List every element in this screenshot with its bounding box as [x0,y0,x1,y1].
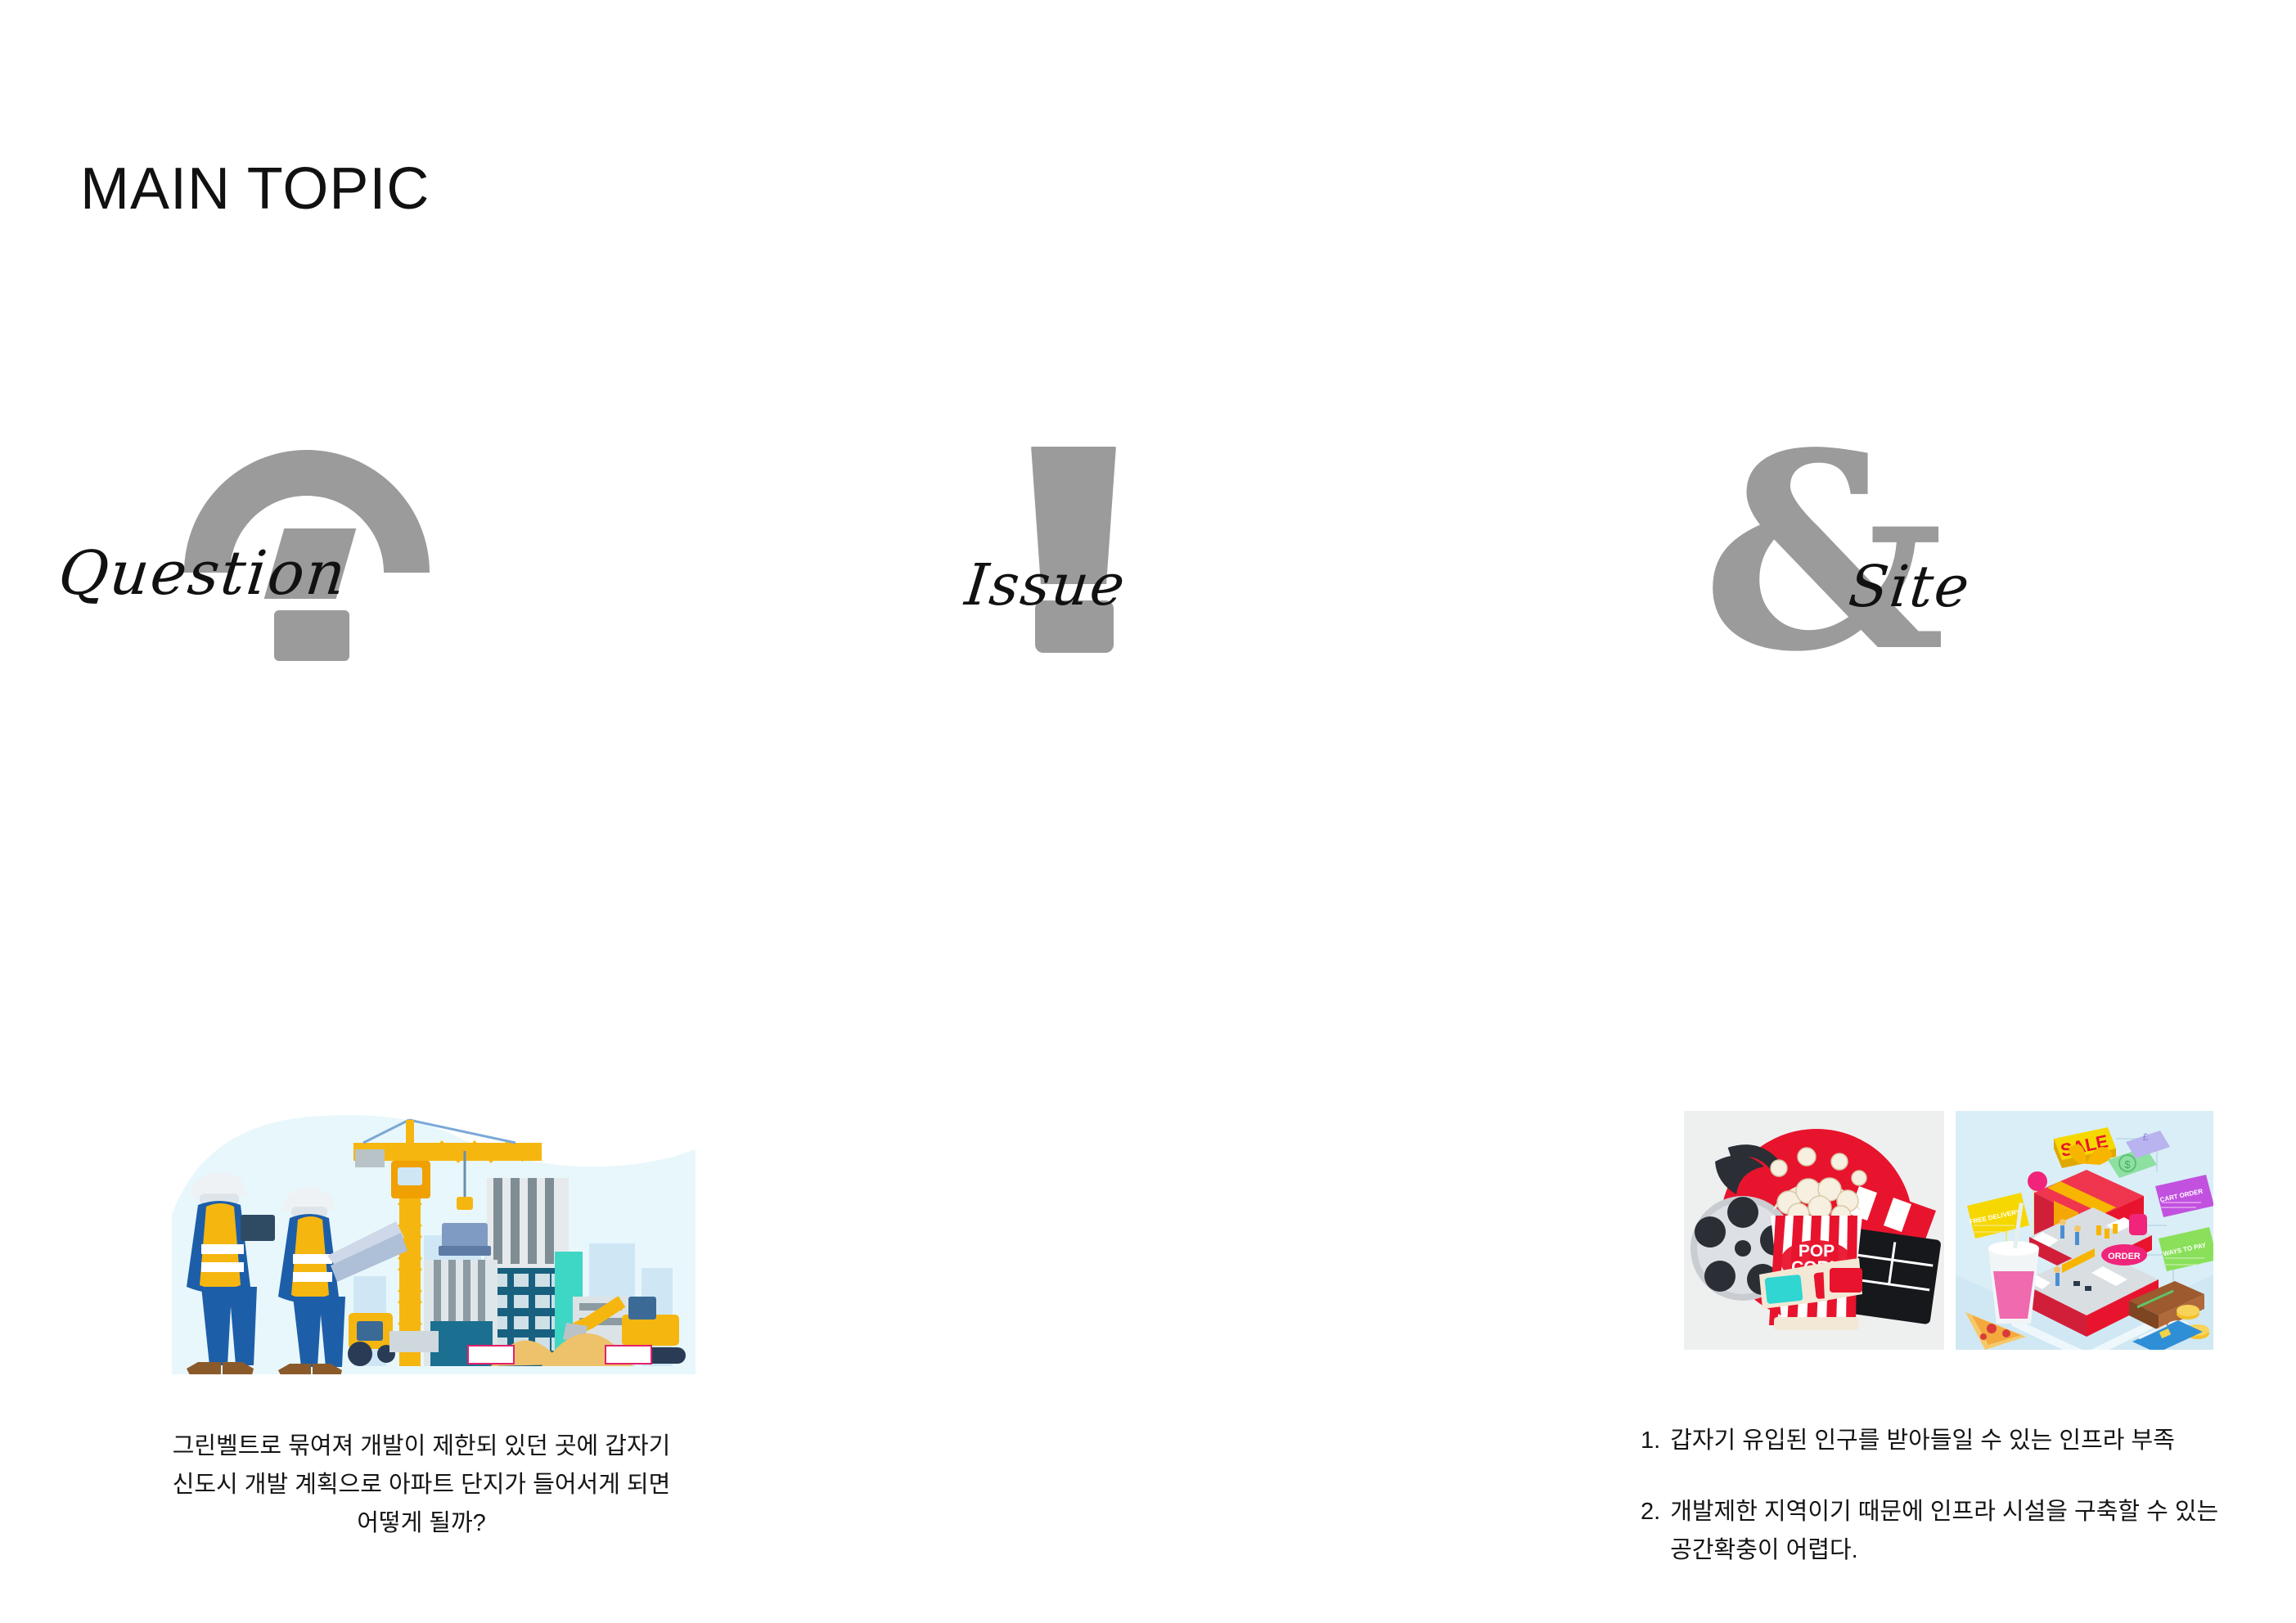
exclamation-mark-icon [1025,447,1123,653]
column-site: & Site [1579,442,2201,654]
caption-line: 그린벨트로 묶여져 개발이 제한되 있던 곳에 갑자기 [98,1427,745,1466]
question-caption: 그린벨트로 묶여져 개발이 제한되 있던 곳에 갑자기 신도시 개발 계획으로 … [98,1427,745,1543]
question-badge: Question [49,442,696,654]
issue-script-label: Issue [962,551,1130,618]
column-question: Question [49,442,696,654]
issue-item-number: 1. [1641,1422,1660,1460]
site-badge: & Site [1579,442,2201,654]
page-title: MAIN TOPIC [80,160,430,218]
issue-badge: Issue [818,442,1416,654]
cinema-popcorn-illustration: POP CORN [1684,1111,1944,1350]
question-script-label: Question [55,538,350,609]
site-script-label: Site [1846,553,1974,620]
caption-line: 어떻게 될까? [98,1504,745,1543]
issue-item-text: 갑자기 유입된 인구를 받아들일 수 있는 인프라 부족 [1670,1422,2175,1460]
issue-item: 1. 갑자기 유입된 인구를 받아들일 수 있는 인프라 부족 [1641,1422,2246,1460]
issue-item-number: 2. [1641,1493,1660,1570]
column-issue: Issue [818,442,1416,654]
svg-text:$: $ [2124,1158,2131,1171]
svg-text:£: £ [2143,1131,2149,1143]
construction-site-illustration [164,1092,704,1374]
ampersand-icon: & [1702,417,1946,687]
online-shopping-isometric-illustration: SALE $ £ % [1956,1111,2213,1350]
issue-item: 2. 개발제한 지역이기 때문에 인프라 시설을 구축할 수 있는 공간확충이 … [1641,1493,2246,1570]
caption-line: 신도시 개발 계획으로 아파트 단지가 들어서게 되면 [98,1466,745,1504]
svg-text:ORDER: ORDER [2108,1252,2141,1261]
issue-caption: 1. 갑자기 유입된 인구를 받아들일 수 있는 인프라 부족 2. 개발제한 … [1641,1422,2246,1603]
issue-item-text: 개발제한 지역이기 때문에 인프라 시설을 구축할 수 있는 공간확충이 어렵다… [1670,1493,2246,1570]
